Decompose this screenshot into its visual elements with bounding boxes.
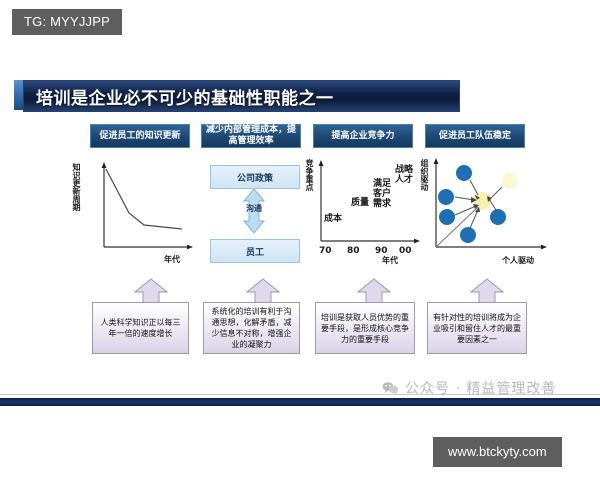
slide-bottom-bar bbox=[0, 398, 600, 406]
caption-box-4: 有针对性的培训将成为企业吸引和留住人才的最重要因素之一 bbox=[427, 302, 527, 354]
channel-watermark: 公众号 · 精益管理改善 bbox=[382, 378, 556, 398]
diagram-node-company-policy: 公司政策 bbox=[210, 165, 300, 189]
title-plate: 培训是企业必不可少的基础性职能之一 bbox=[23, 80, 460, 112]
caption-box-2: 系统化的培训有利于沟通思想，化解矛盾，减少信息不对称，增强企业的凝聚力 bbox=[203, 302, 300, 354]
title-accent-block bbox=[14, 80, 23, 110]
chart3-y-axis-label: 竞争重点 bbox=[305, 159, 314, 191]
chart3-point-label-customer: 满足客户需求 bbox=[373, 179, 391, 209]
chart-panel-knowledge-cycle: 知识更新周期 年代 bbox=[72, 155, 198, 275]
column-header-4: 促进员工队伍稳定 bbox=[425, 124, 525, 148]
channel-watermark-text: 公众号 · 精益管理改善 bbox=[405, 378, 556, 398]
chart4-y-axis-label: 组织驱动 bbox=[420, 159, 429, 191]
chart3-point-label-cost: 成本 bbox=[324, 215, 342, 224]
url-watermark-badge: www.btckyty.com bbox=[433, 437, 562, 467]
caption-box-3: 培训是获取人员优势的重要手段，是形成核心竞争力的重要手段 bbox=[315, 302, 415, 354]
caption-box-1: 人类科学知识正以每三年一倍的速度增长 bbox=[92, 302, 189, 354]
presentation-slide: 培训是企业必不可少的基础性职能之一 促进员工的知识更新 减少内部管理成本，提高管… bbox=[0, 60, 600, 406]
connector-arrow-1 bbox=[134, 278, 168, 304]
diagram-panel-communication: 公司政策 沟通 员工 bbox=[198, 155, 310, 275]
chart-panel-drivers: 组织驱动 个人驱动 bbox=[420, 155, 554, 275]
chart3-x-axis-label: 年代 bbox=[382, 256, 398, 265]
slide-title-bar: 培训是企业必不可少的基础性职能之一 bbox=[14, 80, 460, 110]
slide-title-text: 培训是企业必不可少的基础性职能之一 bbox=[36, 84, 334, 109]
slide-bottom-divider bbox=[0, 394, 600, 395]
column-header-1: 促进员工的知识更新 bbox=[90, 124, 190, 148]
tg-watermark-badge: TG: MYYJJPP bbox=[12, 9, 122, 35]
chart1-x-axis-label: 年代 bbox=[164, 255, 180, 264]
chart3-xtick-90: 90 bbox=[375, 247, 388, 256]
chart3-point-label-quality: 质量 bbox=[351, 199, 369, 208]
column-header-2: 减少内部管理成本，提高管理效率 bbox=[201, 124, 301, 148]
chart3-xtick-80: 80 bbox=[347, 247, 360, 256]
connector-arrow-2 bbox=[246, 278, 280, 304]
diagram-node-employee: 员工 bbox=[210, 239, 300, 263]
chart3-xtick-00: 00 bbox=[399, 247, 412, 256]
connector-arrow-3 bbox=[357, 278, 391, 304]
connector-arrow-4 bbox=[470, 278, 504, 304]
diagram-connector-label: 沟通 bbox=[240, 203, 268, 214]
chart3-xtick-70: 70 bbox=[319, 247, 332, 256]
wechat-icon bbox=[382, 381, 399, 395]
chart3-point-label-talent: 战略人才 bbox=[395, 165, 413, 185]
chart4-x-axis-label: 个人驱动 bbox=[502, 256, 534, 265]
chart-panel-competitive-focus: 竞争重点 成本 质量 满足客户需求 战略人才 70 80 90 00 年代 bbox=[305, 155, 423, 275]
chart1-y-axis-label: 知识更新周期 bbox=[72, 163, 81, 211]
column-header-3: 提高企业竞争力 bbox=[313, 124, 413, 148]
